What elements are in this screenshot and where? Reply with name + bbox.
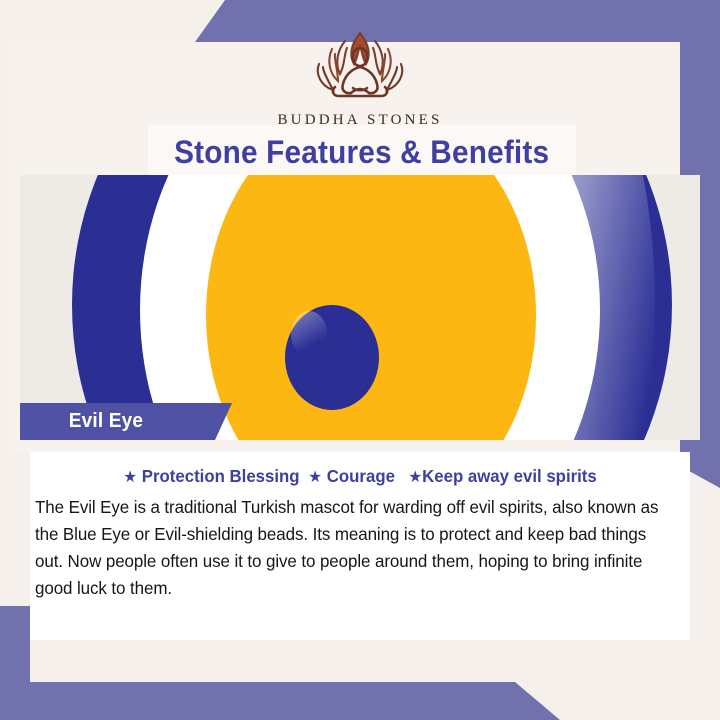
eye-pupil bbox=[285, 305, 379, 410]
infographic-page: BUDDHA STONES Stone Features & Benefits … bbox=[0, 0, 720, 720]
benefit-item-1: Courage bbox=[327, 466, 395, 487]
benefit-item-0: Protection Blessing bbox=[142, 466, 300, 487]
benefit-item-2: Keep away evil spirits bbox=[422, 466, 597, 487]
description-panel: ★ Protection Blessing ★ Courage ★ Keep a… bbox=[30, 452, 690, 640]
page-title: Stone Features & Benefits bbox=[174, 134, 549, 171]
star-icon: ★ bbox=[408, 467, 422, 487]
page-title-plate: Stone Features & Benefits bbox=[148, 125, 576, 180]
benefits-list: ★ Protection Blessing ★ Courage ★ Keep a… bbox=[43, 452, 677, 487]
brand-logo: BUDDHA STONES bbox=[0, 24, 720, 129]
eye-yellow-ring bbox=[206, 175, 536, 440]
evil-eye-graphic bbox=[20, 175, 700, 440]
description-text: The Evil Eye is a traditional Turkish ma… bbox=[35, 494, 667, 602]
product-label-ribbon: Evil Eye bbox=[20, 403, 232, 440]
star-icon: ★ bbox=[308, 467, 322, 487]
product-label: Evil Eye bbox=[23, 410, 143, 433]
product-image bbox=[20, 175, 700, 440]
lotus-meditation-icon bbox=[275, 24, 445, 106]
star-icon: ★ bbox=[123, 467, 137, 487]
frame-bottom-accent bbox=[0, 682, 560, 720]
